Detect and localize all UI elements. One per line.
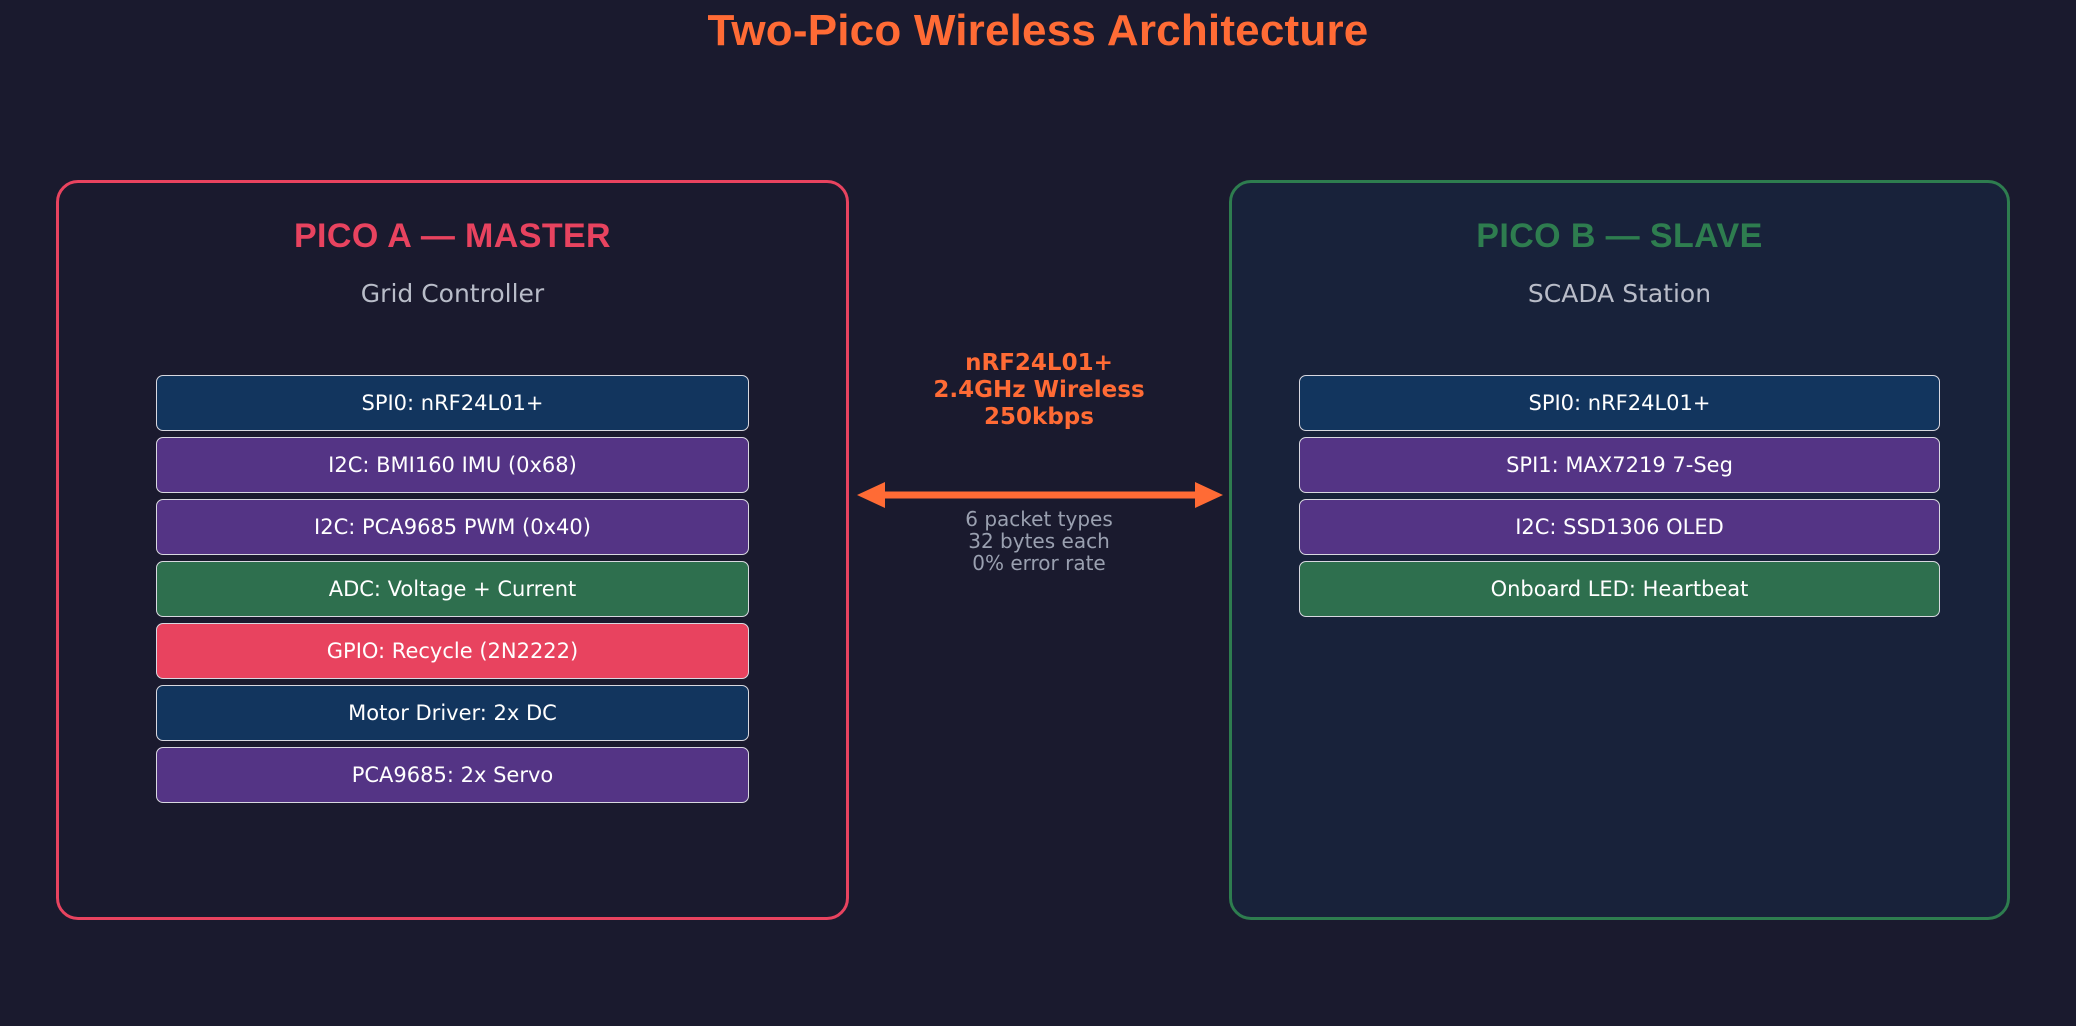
component-row: I2C: SSD1306 OLED: [1299, 499, 1940, 555]
panel-subtitle-master: Grid Controller: [59, 279, 846, 308]
component-row-label: SPI0: nRF24L01+: [1528, 391, 1710, 415]
link-title-line-3: 250kbps: [860, 404, 1218, 431]
component-row-label: I2C: SSD1306 OLED: [1515, 515, 1724, 539]
link-stat-line-2: 32 bytes each: [860, 530, 1218, 552]
component-row: SPI0: nRF24L01+: [156, 375, 749, 431]
component-row-label: Motor Driver: 2x DC: [348, 701, 557, 725]
component-row: SPI1: MAX7219 7-Seg: [1299, 437, 1940, 493]
component-row-label: GPIO: Recycle (2N2222): [327, 639, 578, 663]
component-row: ADC: Voltage + Current: [156, 561, 749, 617]
component-row: Onboard LED: Heartbeat: [1299, 561, 1940, 617]
component-list-master: SPI0: nRF24L01+I2C: BMI160 IMU (0x68)I2C…: [156, 375, 749, 809]
component-row: SPI0: nRF24L01+: [1299, 375, 1940, 431]
panel-subtitle-slave: SCADA Station: [1232, 279, 2007, 308]
component-row-label: I2C: PCA9685 PWM (0x40): [314, 515, 591, 539]
link-stat-line-1: 6 packet types: [860, 508, 1218, 530]
component-row-label: PCA9685: 2x Servo: [352, 763, 554, 787]
component-row-label: SPI1: MAX7219 7-Seg: [1506, 453, 1733, 477]
wireless-link-label: nRF24L01+ 2.4GHz Wireless 250kbps: [860, 350, 1218, 431]
link-stat-line-3: 0% error rate: [860, 552, 1218, 574]
component-row: Motor Driver: 2x DC: [156, 685, 749, 741]
link-title-line-1: nRF24L01+: [860, 350, 1218, 377]
link-stats: 6 packet types 32 bytes each 0% error ra…: [860, 508, 1218, 574]
panel-title-slave: PICO B — SLAVE: [1232, 217, 2007, 256]
page-title: Two-Pico Wireless Architecture: [0, 6, 2076, 56]
component-row-label: ADC: Voltage + Current: [329, 577, 577, 601]
component-row-label: Onboard LED: Heartbeat: [1491, 577, 1749, 601]
component-row-label: I2C: BMI160 IMU (0x68): [328, 453, 577, 477]
component-row: PCA9685: 2x Servo: [156, 747, 749, 803]
component-row: I2C: PCA9685 PWM (0x40): [156, 499, 749, 555]
panel-title-master: PICO A — MASTER: [59, 217, 846, 256]
link-title-line-2: 2.4GHz Wireless: [860, 377, 1218, 404]
component-row: GPIO: Recycle (2N2222): [156, 623, 749, 679]
panel-pico-a-master: PICO A — MASTER Grid Controller SPI0: nR…: [56, 180, 849, 920]
component-row: I2C: BMI160 IMU (0x68): [156, 437, 749, 493]
panel-pico-b-slave: PICO B — SLAVE SCADA Station SPI0: nRF24…: [1229, 180, 2010, 920]
component-row-label: SPI0: nRF24L01+: [361, 391, 543, 415]
component-list-slave: SPI0: nRF24L01+SPI1: MAX7219 7-SegI2C: S…: [1299, 375, 1940, 623]
